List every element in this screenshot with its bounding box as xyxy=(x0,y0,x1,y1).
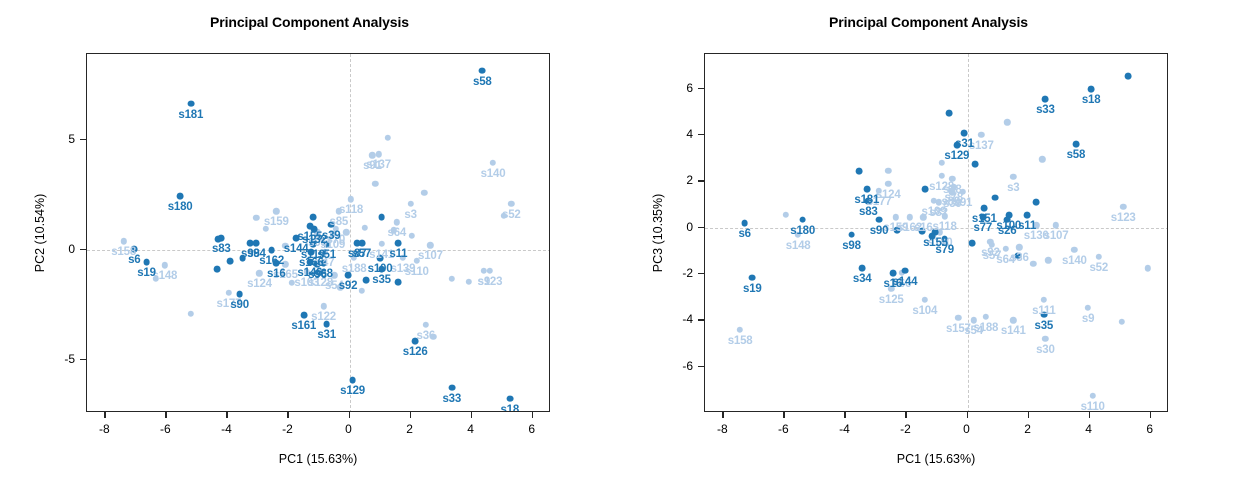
data-point xyxy=(799,216,806,223)
data-point xyxy=(1088,85,1095,92)
data-point xyxy=(859,265,866,272)
y-axis-tick-label: 5 xyxy=(68,132,75,146)
y-axis-tick-label: -5 xyxy=(64,352,75,366)
data-point xyxy=(253,215,259,221)
x-axis-tick-label: -8 xyxy=(99,422,110,436)
data-point xyxy=(162,262,168,268)
point-label: s6 xyxy=(128,254,140,266)
point-label: s181 xyxy=(854,194,879,206)
point-label: s3 xyxy=(404,209,416,221)
x-axis-tick-label: 0 xyxy=(963,422,970,436)
data-point xyxy=(1089,392,1095,398)
data-point xyxy=(1030,260,1036,266)
data-point xyxy=(362,225,368,231)
point-label: s141 xyxy=(1001,325,1026,337)
point-label: s31 xyxy=(317,329,336,341)
data-point xyxy=(1071,247,1077,253)
point-label: s82 xyxy=(929,207,948,219)
data-point xyxy=(236,291,243,298)
point-label: s188 xyxy=(973,322,998,334)
y-axis-tick xyxy=(80,249,86,250)
point-label: s161 xyxy=(291,320,316,332)
pca-figure: Principal Component Analysis s137s91s140… xyxy=(0,0,1238,500)
data-point xyxy=(309,214,316,221)
y-axis-tick-label: 2 xyxy=(686,173,693,187)
data-point xyxy=(848,231,855,238)
x-axis-tick xyxy=(722,412,723,418)
y-axis-tick xyxy=(698,134,704,135)
point-label: s52 xyxy=(502,209,521,221)
data-point xyxy=(1010,174,1016,180)
page-title-right: Principal Component Analysis xyxy=(619,14,1238,30)
point-label: s159 xyxy=(264,216,289,228)
data-point xyxy=(143,259,150,266)
point-label: s96 xyxy=(308,269,327,281)
point-label: s34 xyxy=(853,273,872,285)
data-point xyxy=(300,312,307,319)
x-axis-tick-label: -4 xyxy=(221,422,232,436)
data-point xyxy=(395,240,402,247)
data-point xyxy=(1096,253,1102,259)
x-axis-tick xyxy=(1028,412,1029,418)
x-axis-tick xyxy=(104,412,105,418)
point-label: s118 xyxy=(339,204,363,216)
y-axis-tick xyxy=(698,273,704,274)
point-label: s6 xyxy=(738,228,750,240)
y-axis-tick xyxy=(698,88,704,89)
data-point xyxy=(1024,212,1031,219)
data-point xyxy=(253,240,260,247)
plot-area-left: s137s91s140s118s3s52s85s159s64s70s95s109… xyxy=(86,53,550,412)
point-label: s144 xyxy=(893,276,918,288)
x-axis-tick xyxy=(410,412,411,418)
point-label: s83 xyxy=(859,206,878,218)
y-axis-tick xyxy=(80,359,86,360)
point-label: s111 xyxy=(1032,305,1056,317)
y-axis-tick-label: 6 xyxy=(686,81,693,95)
point-label: s140 xyxy=(1062,255,1087,267)
x-axis-tick-label: -8 xyxy=(717,422,728,436)
data-point xyxy=(421,190,427,196)
data-point xyxy=(961,129,968,136)
data-point xyxy=(407,201,413,207)
data-point xyxy=(369,152,375,158)
data-point xyxy=(885,168,891,174)
point-label: s16 xyxy=(267,268,286,280)
data-point xyxy=(893,214,899,220)
point-label: s129 xyxy=(944,150,969,162)
data-point xyxy=(358,240,365,247)
data-point xyxy=(737,326,743,332)
data-point xyxy=(384,134,390,140)
data-point xyxy=(946,110,953,117)
point-label: s35 xyxy=(1035,320,1054,332)
x-axis-tick-label: -4 xyxy=(839,422,850,436)
vertical-zero-gridline xyxy=(968,54,969,411)
point-label: s19 xyxy=(743,283,762,295)
point-label: s26 xyxy=(998,225,1017,237)
point-label: s64 xyxy=(388,227,407,239)
data-point xyxy=(1120,204,1126,210)
point-label: s107 xyxy=(418,250,443,262)
x-axis-tick xyxy=(783,412,784,418)
data-point xyxy=(349,377,356,384)
x-axis-tick-label: -2 xyxy=(900,422,911,436)
data-point xyxy=(741,220,748,227)
data-point xyxy=(449,275,455,281)
x-axis-tick xyxy=(967,412,968,418)
data-point xyxy=(378,214,385,221)
x-axis-tick xyxy=(1150,412,1151,418)
point-label: s9 xyxy=(478,276,490,288)
point-label: s11 xyxy=(1018,220,1036,232)
data-point xyxy=(885,181,891,187)
data-point xyxy=(922,296,928,302)
data-point xyxy=(394,219,400,225)
data-point xyxy=(1085,304,1091,310)
point-label: s33 xyxy=(442,393,461,405)
x-axis-tick-label: 6 xyxy=(1146,422,1153,436)
x-axis-tick xyxy=(471,412,472,418)
data-point xyxy=(955,315,961,321)
point-label: s58 xyxy=(1067,149,1086,161)
data-point xyxy=(423,322,429,328)
x-axis-tick xyxy=(532,412,533,418)
data-point xyxy=(213,265,220,272)
x-axis-tick-label: 2 xyxy=(1024,422,1031,436)
data-point xyxy=(1041,296,1047,302)
point-label: s110 xyxy=(1081,401,1105,411)
data-point xyxy=(1072,141,1079,148)
point-label: s11 xyxy=(389,248,407,260)
data-point xyxy=(409,232,415,238)
point-label: s92 xyxy=(339,280,358,292)
y-axis-tick-label: 0 xyxy=(68,242,75,256)
point-label: s180 xyxy=(790,225,815,237)
data-point xyxy=(981,205,988,212)
point-label: s85 xyxy=(330,216,349,228)
point-label: s18 xyxy=(500,404,519,411)
data-point xyxy=(320,303,326,309)
data-point xyxy=(448,384,455,391)
data-point xyxy=(395,279,402,286)
x-axis-tick-label: 6 xyxy=(528,422,535,436)
point-label: s35 xyxy=(372,274,391,286)
vertical-zero-gridline xyxy=(350,54,351,411)
point-label: s158 xyxy=(728,335,753,347)
y-axis-tick xyxy=(698,319,704,320)
point-label: s118 xyxy=(933,221,957,233)
point-label: s77 xyxy=(973,222,992,234)
data-point xyxy=(479,67,486,74)
data-point xyxy=(359,288,365,294)
point-label: s90 xyxy=(870,225,889,237)
point-label: s148 xyxy=(152,270,177,282)
data-point xyxy=(506,395,513,402)
data-point xyxy=(749,274,756,281)
data-point xyxy=(906,214,912,220)
x-axis-tick xyxy=(844,412,845,418)
x-axis-tick xyxy=(1089,412,1090,418)
data-point xyxy=(508,201,514,207)
x-axis-title-right: PC1 (15.63%) xyxy=(897,452,976,466)
x-axis-tick-label: 2 xyxy=(406,422,413,436)
y-axis-tick-label: -6 xyxy=(682,359,693,373)
point-label: s125 xyxy=(879,294,904,306)
y-axis-title-left: PC2 (10.54%) xyxy=(33,193,47,272)
data-point xyxy=(226,290,232,296)
point-label: s16 xyxy=(914,222,933,234)
point-label: s18 xyxy=(1082,94,1101,106)
point-label: s83 xyxy=(212,243,231,255)
data-point xyxy=(378,241,384,247)
y-axis-tick-label: 4 xyxy=(686,127,693,141)
data-point xyxy=(1033,199,1040,206)
data-point xyxy=(921,186,928,193)
x-axis-tick-label: 0 xyxy=(345,422,352,436)
pca-panel-pc1-pc3: Principal Component Analysis s137s128s28… xyxy=(619,0,1238,500)
data-point xyxy=(1010,317,1016,323)
data-point xyxy=(273,208,279,214)
point-label: s180 xyxy=(168,201,193,213)
data-point xyxy=(120,238,126,244)
plot-canvas-left: s137s91s140s118s3s52s85s159s64s70s95s109… xyxy=(87,54,549,411)
data-point xyxy=(1045,257,1051,263)
y-axis-tick xyxy=(698,227,704,228)
data-point xyxy=(465,279,471,285)
data-point xyxy=(1042,96,1049,103)
point-label: s3 xyxy=(1007,182,1019,194)
point-label: s126 xyxy=(403,346,428,358)
data-point xyxy=(969,239,976,246)
data-point xyxy=(863,186,870,193)
point-label: s123 xyxy=(1111,212,1136,224)
x-axis-tick-label: -2 xyxy=(282,422,293,436)
point-label: s140 xyxy=(481,168,506,180)
point-label: s107 xyxy=(1044,230,1069,242)
data-point xyxy=(978,132,984,138)
data-point xyxy=(1004,119,1010,125)
point-label: s110 xyxy=(405,266,429,278)
x-axis-tick-label: -6 xyxy=(778,422,789,436)
data-point xyxy=(856,168,863,175)
point-label: s9 xyxy=(1082,313,1094,325)
data-point xyxy=(363,276,370,283)
data-point xyxy=(487,268,493,274)
x-axis-title-left: PC1 (15.63%) xyxy=(279,452,358,466)
point-label: s104 xyxy=(912,305,937,317)
y-axis-tick-label: -4 xyxy=(682,312,693,326)
data-point xyxy=(938,172,944,178)
point-label: s57 xyxy=(352,248,371,260)
y-axis-tick-label: 0 xyxy=(686,220,693,234)
page-title-left: Principal Component Analysis xyxy=(0,14,619,30)
data-point xyxy=(1124,73,1131,80)
y-axis-tick xyxy=(80,139,86,140)
x-axis-tick xyxy=(165,412,166,418)
point-label: s129 xyxy=(340,385,365,397)
data-point xyxy=(1042,336,1048,342)
data-point xyxy=(348,196,354,202)
data-point xyxy=(188,311,194,317)
data-point xyxy=(490,160,496,166)
point-label: s31 xyxy=(955,138,974,150)
point-label: s36 xyxy=(417,330,436,342)
point-label: s36 xyxy=(1010,252,1029,264)
pca-panel-pc1-pc2: Principal Component Analysis s137s91s140… xyxy=(0,0,619,500)
data-point xyxy=(215,236,222,243)
data-point xyxy=(992,194,999,201)
data-point xyxy=(481,268,487,274)
plot-canvas-right: s137s128s28s3s123s124s177s78s89s91s39s10… xyxy=(705,54,1167,411)
point-label: s91 xyxy=(363,160,382,172)
point-label: s181 xyxy=(178,109,203,121)
x-axis-tick-label: -6 xyxy=(160,422,171,436)
data-point xyxy=(1118,318,1124,324)
point-label: s58 xyxy=(473,76,492,88)
point-label: s79 xyxy=(935,244,954,256)
x-axis-tick xyxy=(905,412,906,418)
x-axis-tick-label: 4 xyxy=(1085,422,1092,436)
data-point xyxy=(427,242,433,248)
y-axis-tick xyxy=(698,366,704,367)
y-axis-title-right: PC3 (10.35%) xyxy=(651,193,665,272)
data-point xyxy=(783,212,789,218)
x-axis-tick xyxy=(287,412,288,418)
point-label: s19 xyxy=(137,267,156,279)
x-axis-tick xyxy=(349,412,350,418)
point-label: s162 xyxy=(259,255,284,267)
data-point xyxy=(375,151,381,157)
data-point xyxy=(1016,244,1022,250)
point-label: s52 xyxy=(1089,262,1108,274)
point-label: s98 xyxy=(842,240,861,252)
data-point xyxy=(972,161,979,168)
point-label: s148 xyxy=(786,240,811,252)
data-point xyxy=(1144,265,1150,271)
data-point xyxy=(227,258,234,265)
data-point xyxy=(372,181,378,187)
point-label: s90 xyxy=(230,299,249,311)
data-point xyxy=(902,267,909,274)
x-axis-tick xyxy=(226,412,227,418)
data-point xyxy=(187,100,194,107)
point-label: s33 xyxy=(1036,104,1055,116)
y-axis-tick xyxy=(698,180,704,181)
y-axis-tick-label: -2 xyxy=(682,266,693,280)
data-point xyxy=(177,193,184,200)
data-point xyxy=(983,314,989,320)
data-point xyxy=(268,247,275,254)
x-axis-tick-label: 4 xyxy=(467,422,474,436)
plot-area-right: s137s128s28s3s123s124s177s78s89s91s39s10… xyxy=(704,53,1168,412)
data-point xyxy=(1039,156,1045,162)
point-label: s188 xyxy=(342,263,367,275)
data-point xyxy=(256,270,262,276)
data-point xyxy=(1002,245,1008,251)
point-label: s30 xyxy=(1036,344,1055,356)
